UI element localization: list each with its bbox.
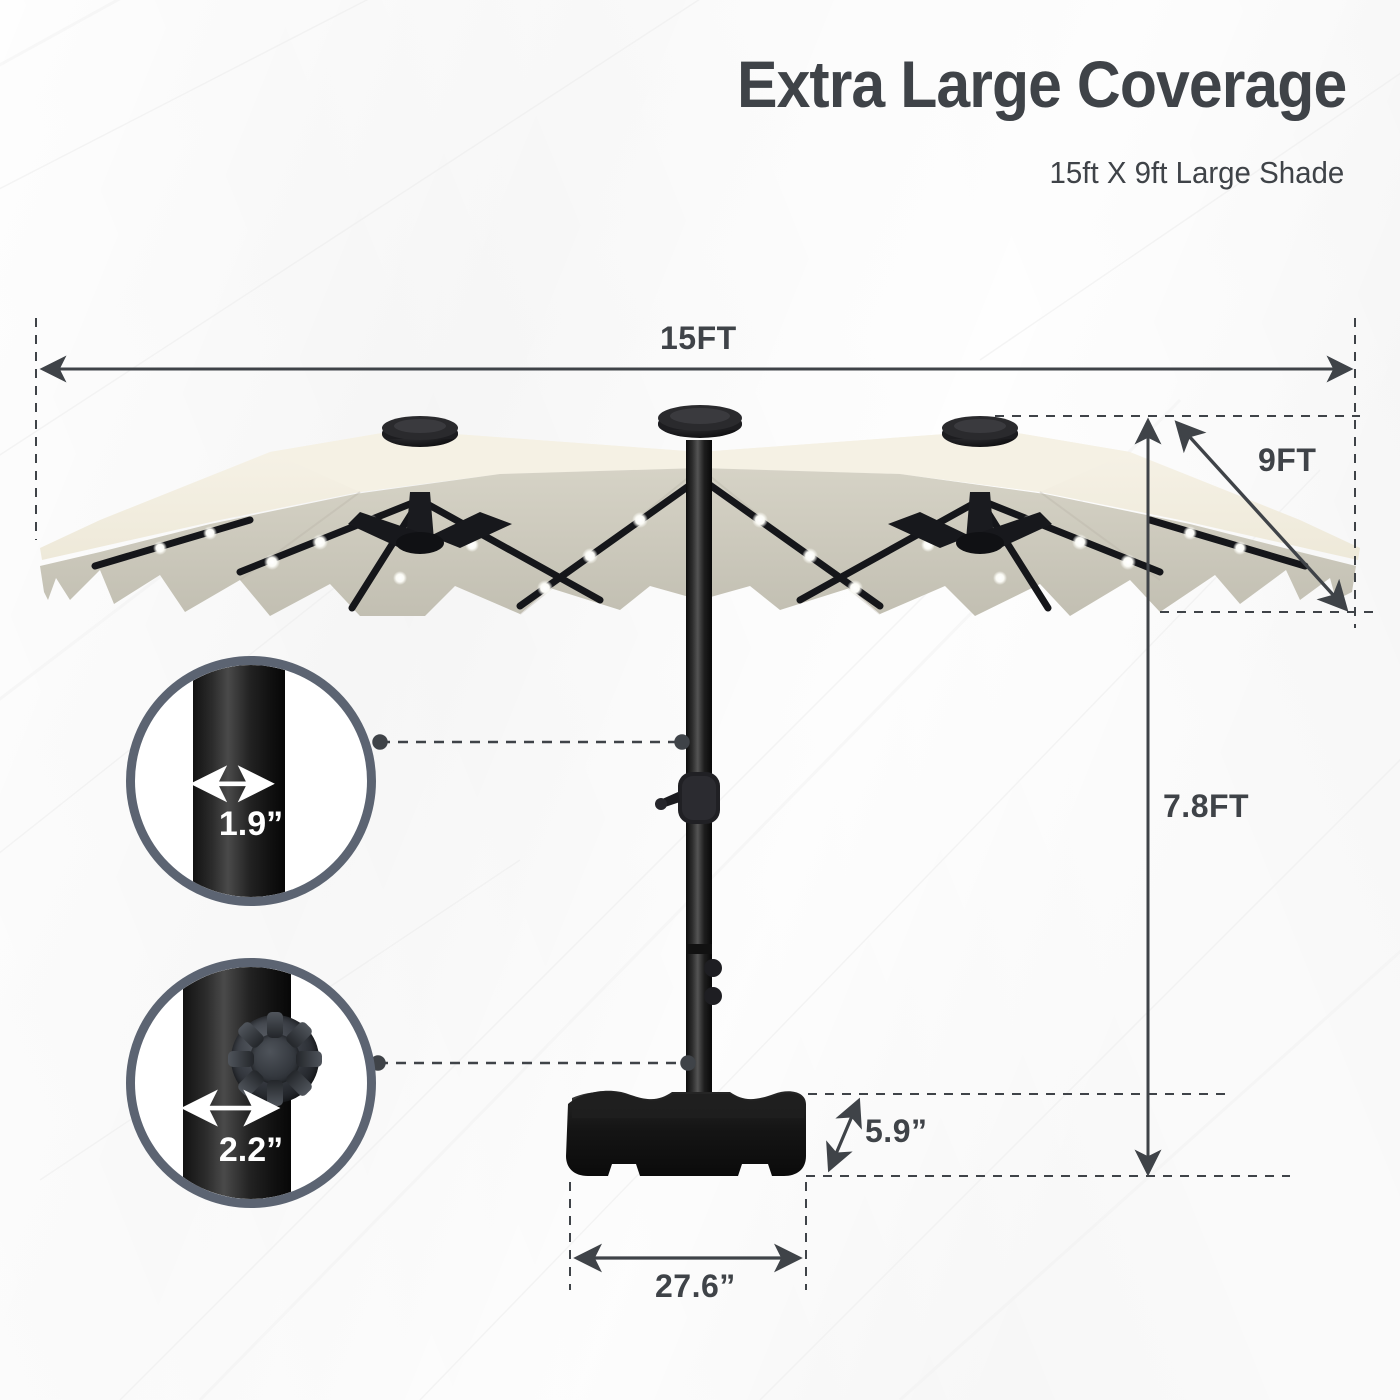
label-depth-9ft: 9FT bbox=[1258, 442, 1316, 479]
callout-lower-pole-image: 2.2” bbox=[135, 967, 367, 1199]
infographic-canvas: Extra Large Coverage 15ft X 9ft Large Sh… bbox=[0, 0, 1400, 1400]
callout-lower-pole: 2.2” bbox=[126, 958, 376, 1208]
dimension-base-height bbox=[830, 1102, 858, 1168]
dimension-depth-9ft bbox=[995, 416, 1378, 612]
dimension-width-15ft bbox=[36, 318, 1355, 628]
callout-lower-pole-label: 2.2” bbox=[135, 1131, 367, 1170]
label-width-15ft: 15FT bbox=[660, 320, 737, 357]
base-guides bbox=[570, 1094, 1290, 1290]
label-base-height: 5.9” bbox=[865, 1113, 927, 1150]
callout-upper-arrow bbox=[135, 665, 367, 897]
label-height-7-8ft: 7.8FT bbox=[1163, 788, 1249, 825]
callout-upper-pole-label: 1.9” bbox=[135, 805, 367, 844]
label-base-width: 27.6” bbox=[655, 1268, 736, 1305]
callout-upper-pole-image: 1.9” bbox=[135, 665, 367, 897]
callout-leader-lines bbox=[378, 742, 688, 1063]
callout-upper-pole: 1.9” bbox=[126, 656, 376, 906]
